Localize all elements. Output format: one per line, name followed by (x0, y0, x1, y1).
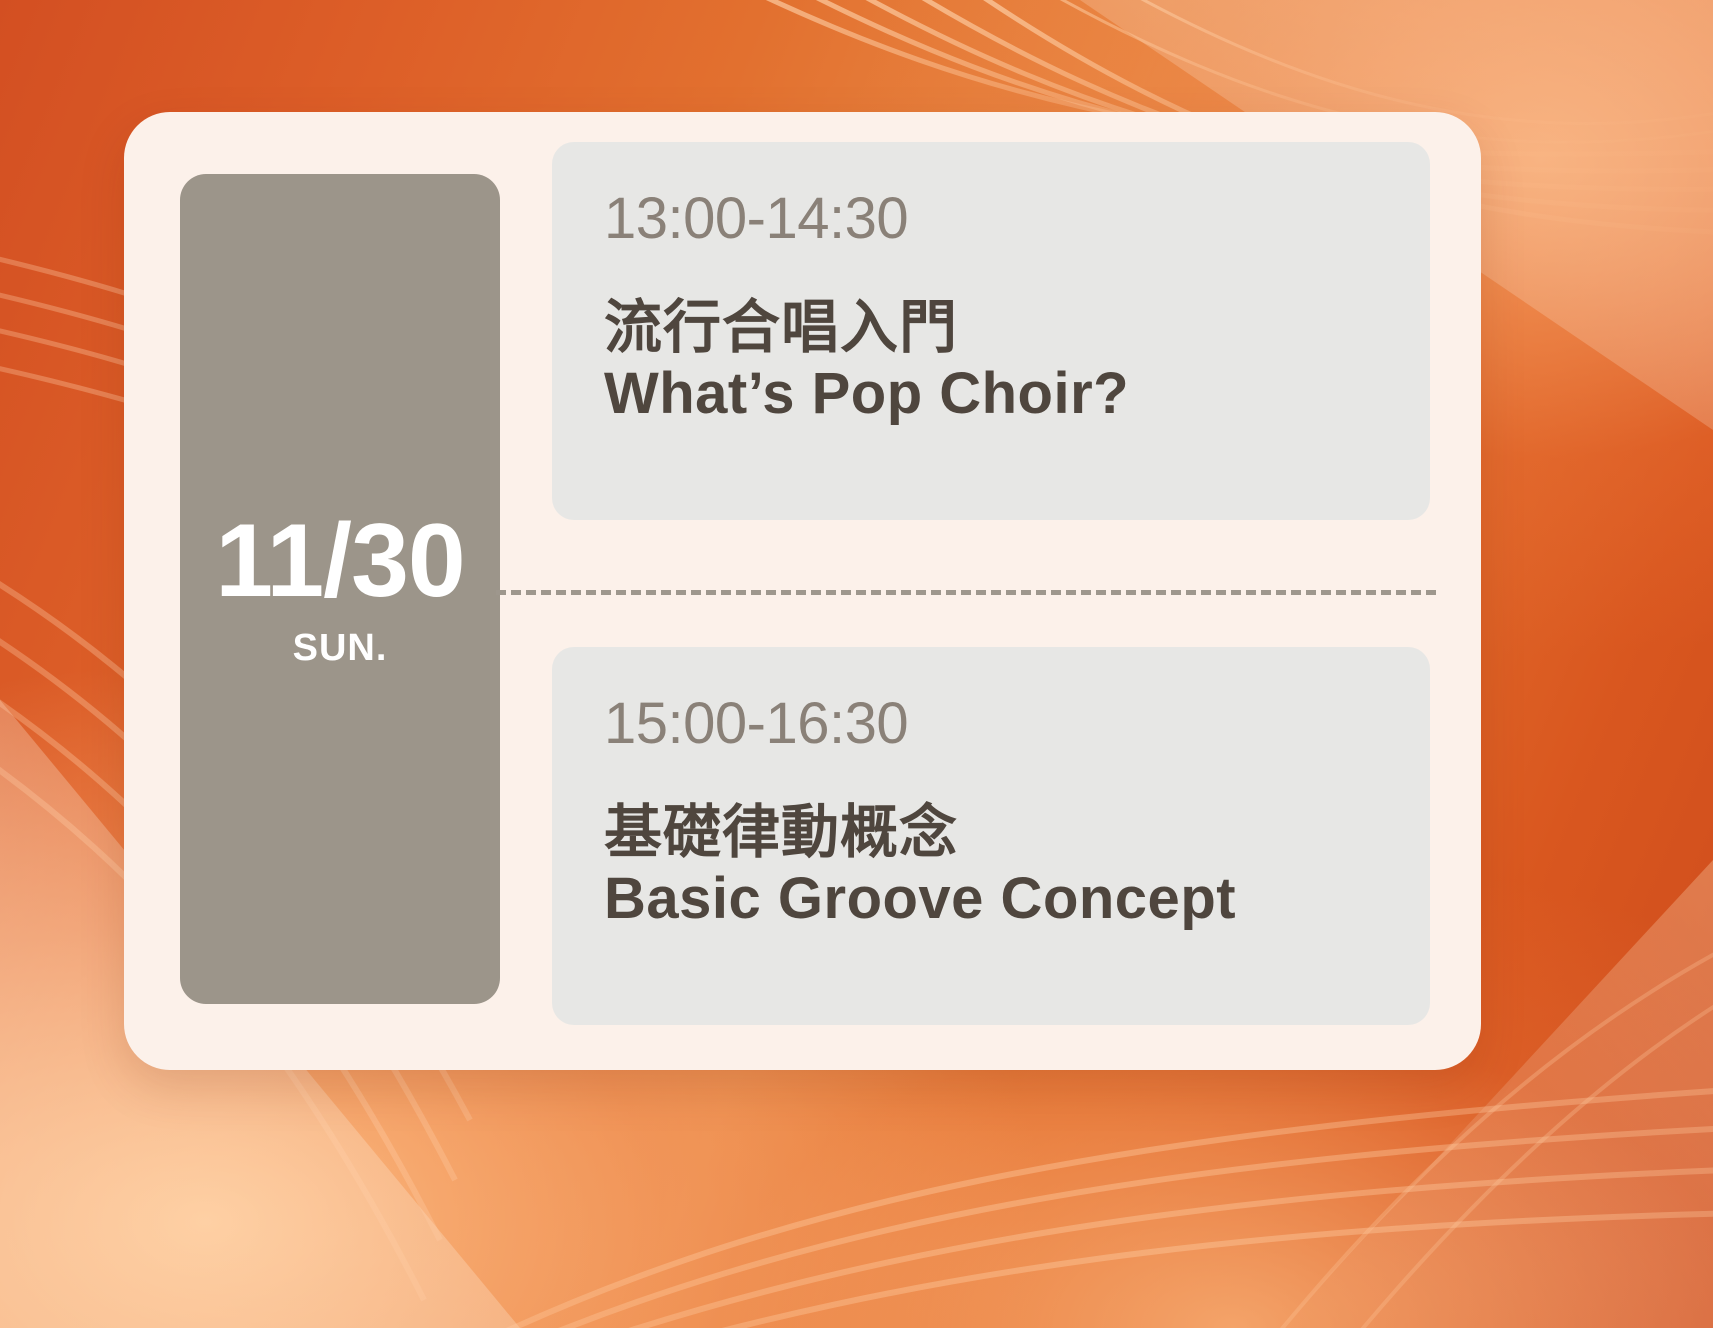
schedule-card: 11/30 SUN. 13:00-14:30 流行合唱入門 What’s Pop… (124, 112, 1481, 1070)
event-title-zh: 流行合唱入門 (604, 296, 1378, 361)
event-time: 15:00-16:30 (604, 695, 1378, 753)
event-title-en: What’s Pop Choir? (604, 361, 1378, 427)
date-panel: 11/30 SUN. (180, 174, 500, 1004)
poster-canvas: 11/30 SUN. 13:00-14:30 流行合唱入門 What’s Pop… (0, 0, 1713, 1328)
event-time: 13:00-14:30 (604, 190, 1378, 248)
event-item[interactable]: 15:00-16:30 基礎律動概念 Basic Groove Concept (552, 647, 1430, 1025)
date-weekday-label: SUN. (293, 627, 388, 670)
date-day-label: 11/30 (215, 509, 465, 613)
event-item[interactable]: 13:00-14:30 流行合唱入門 What’s Pop Choir? (552, 142, 1430, 520)
event-title-zh: 基礎律動概念 (604, 801, 1378, 866)
dashed-divider (496, 590, 1436, 595)
event-title-en: Basic Groove Concept (604, 866, 1378, 932)
